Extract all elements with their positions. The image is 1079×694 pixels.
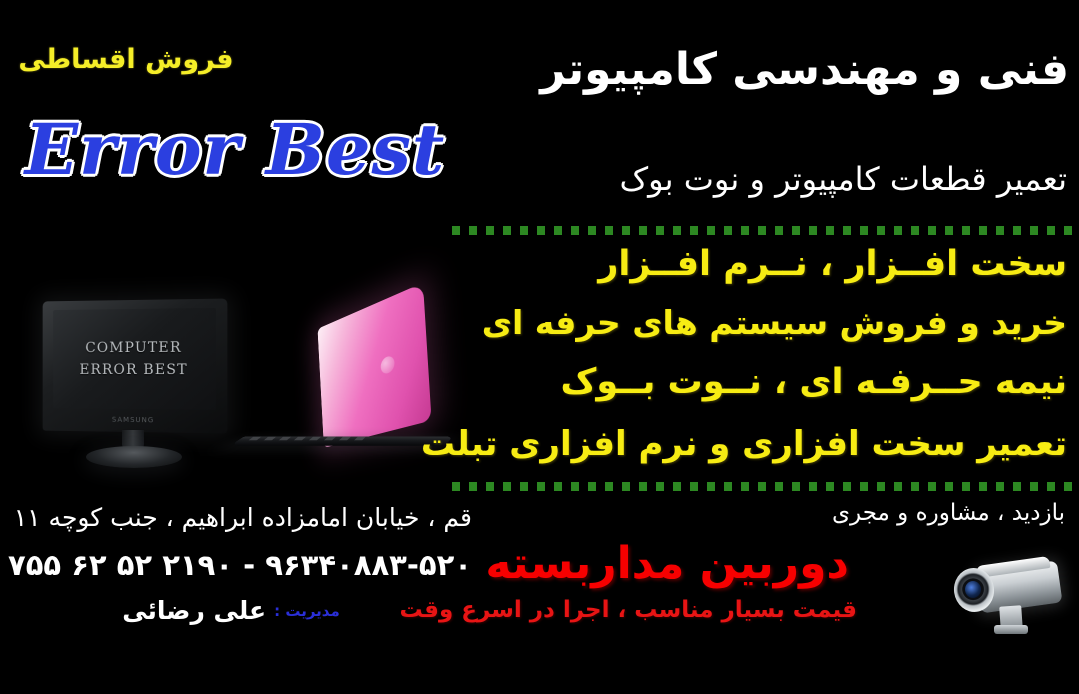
phone-numbers: ۰۲۵-۳۸۸۰۴۳۶۹ - ۰۹۱۲ ۲۵ ۲۶ ۵۵۷ xyxy=(12,548,472,582)
laptop-ports xyxy=(249,437,373,441)
cctv-tagline-bottom: قیمت بسیار مناسب ، اجرا در اسرع وقت xyxy=(437,597,857,623)
manager-name: علی رضائی xyxy=(122,596,266,625)
cctv-tagline-top: بازدید ، مشاوره و مجری xyxy=(645,500,1065,526)
manager-line: مدیریت : علی رضائی xyxy=(31,596,431,625)
brand-logo: Error Best xyxy=(0,108,470,191)
service-item-tablet-repair: تعمیر سخت افزاری و نرم افزاری تبلت xyxy=(467,424,1067,464)
monitor-bezel: COMPUTER ERROR BEST SAMSUNG xyxy=(43,299,228,434)
dotted-divider-bottom xyxy=(452,482,1074,491)
page-title: فنی و مهندسی کامپیوتر xyxy=(469,44,1069,96)
cctv-camera-icon xyxy=(948,552,1072,642)
monitor-screen-line-1: COMPUTER xyxy=(85,337,181,359)
address-text: قم ، خیابان امامزاده ابراهیم ، جنب کوچه … xyxy=(32,503,472,532)
camera-foot xyxy=(994,625,1028,634)
page-subtitle: تعمیر قطعات کامپیوتر و نوت بوک xyxy=(467,160,1067,198)
monitor-screen: COMPUTER ERROR BEST xyxy=(53,308,216,410)
service-item-professional-systems: خرید و فروش سیستم های حرفه ای xyxy=(467,303,1067,342)
service-item-semi-professional-notebook: نیمه حــرفـه ای ، نــوت بــوک xyxy=(467,362,1067,402)
cctv-title: دوربین مداربسته xyxy=(469,538,849,589)
service-item-hardware-software: سخت افــزار ، نــرم افــزار xyxy=(467,244,1067,284)
dotted-divider-top xyxy=(452,226,1074,235)
manager-label: مدیریت : xyxy=(274,602,340,620)
monitor-brand-bar: SAMSUNG xyxy=(53,411,216,429)
business-card-advertisement: فروش اقساطی Error Best COMPUTER ERROR BE… xyxy=(0,0,1079,694)
monitor-screen-line-2: ERROR BEST xyxy=(79,359,187,381)
monitor-base xyxy=(86,446,182,468)
camera-lens xyxy=(965,581,981,598)
monitor-brand-mark: SAMSUNG xyxy=(112,416,154,425)
installment-sale-label: فروش اقساطی xyxy=(16,44,236,75)
laptop-lid xyxy=(318,283,432,448)
desktop-monitor-icon: COMPUTER ERROR BEST SAMSUNG xyxy=(34,300,234,480)
